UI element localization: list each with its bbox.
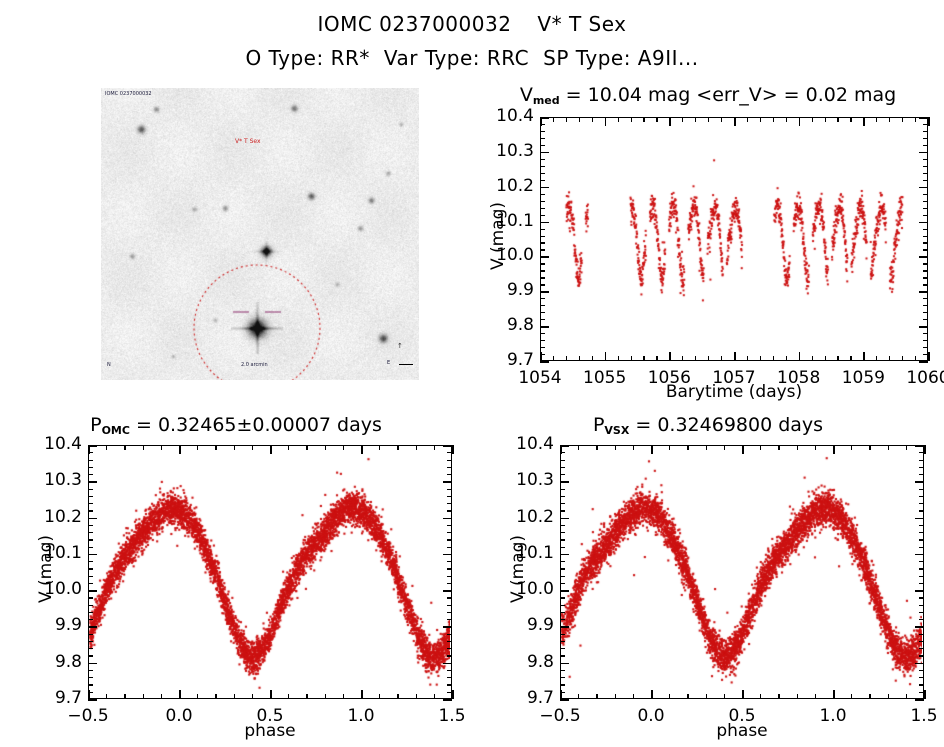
ytick-minor bbox=[88, 590, 93, 591]
xtick-minor bbox=[605, 356, 606, 361]
timeseries-ylabel: V (mag) bbox=[488, 186, 508, 286]
ytick-minor bbox=[88, 467, 93, 468]
ytick-label: 10.3 bbox=[478, 141, 534, 161]
xtick-minor bbox=[88, 694, 89, 699]
ytick-minor bbox=[560, 626, 565, 627]
ytick-minor bbox=[923, 152, 928, 153]
ytick-minor bbox=[560, 460, 565, 461]
ytick-minor bbox=[560, 481, 565, 482]
ytick-minor bbox=[923, 284, 928, 285]
ytick-minor bbox=[923, 326, 928, 327]
phase-omc-plot-frame bbox=[88, 445, 452, 699]
xtick-minor bbox=[742, 694, 743, 699]
ytick-minor bbox=[88, 670, 93, 671]
ytick-minor bbox=[919, 539, 924, 540]
xtick-minor bbox=[669, 117, 670, 122]
finder-label-top-left: IOMC 0237000032 bbox=[105, 91, 152, 97]
xtick-label: 1.5 bbox=[884, 706, 944, 726]
xtick-minor bbox=[270, 445, 271, 450]
xtick-label: 0.0 bbox=[139, 706, 219, 726]
xtick-minor bbox=[928, 117, 929, 122]
xtick-label: 0.5 bbox=[230, 706, 310, 726]
ytick-minor bbox=[560, 547, 565, 548]
ytick-minor bbox=[447, 699, 452, 700]
ytick-label: 10.0 bbox=[478, 245, 534, 265]
finder-chart[interactable]: IOMC 0237000032 V* T Sex N 2.0 arcmin E … bbox=[101, 88, 419, 380]
xtick-minor bbox=[643, 117, 644, 122]
ytick-label: 10.4 bbox=[26, 434, 82, 454]
xtick-minor bbox=[234, 694, 235, 699]
xtick-minor bbox=[706, 694, 707, 699]
ytick-minor bbox=[88, 532, 93, 533]
ytick-minor bbox=[447, 503, 452, 504]
ytick-minor bbox=[560, 532, 565, 533]
finder-sky-image bbox=[101, 88, 419, 380]
xtick-minor bbox=[734, 117, 735, 122]
ytick-label: 9.7 bbox=[478, 350, 534, 370]
ytick-minor bbox=[88, 619, 93, 620]
ytick-minor bbox=[540, 312, 545, 313]
xtick-minor bbox=[631, 117, 632, 122]
xtick-minor bbox=[197, 445, 198, 450]
ytick-minor bbox=[88, 503, 93, 504]
ytick-minor bbox=[447, 481, 452, 482]
ytick-minor bbox=[923, 180, 928, 181]
ytick-label: 9.8 bbox=[478, 315, 534, 335]
xtick-minor bbox=[578, 445, 579, 450]
ytick-minor bbox=[88, 474, 93, 475]
ytick-minor bbox=[923, 263, 928, 264]
ytick-minor bbox=[447, 510, 452, 511]
xtick-minor bbox=[656, 356, 657, 361]
ytick-minor bbox=[923, 347, 928, 348]
phase-omc-panel[interactable]: POMC = 0.32465±0.00007 days V (mag) phas… bbox=[0, 414, 472, 747]
ytick-minor bbox=[923, 187, 928, 188]
xtick-minor bbox=[889, 117, 890, 122]
xtick-minor bbox=[687, 694, 688, 699]
iomc-datasheet: IOMC 0237000032V* T Sex O Type: RR*Var T… bbox=[0, 0, 944, 747]
xtick-minor bbox=[815, 694, 816, 699]
phase-omc-ylabel: V (mag) bbox=[36, 519, 56, 619]
ytick-minor bbox=[923, 131, 928, 132]
timeseries-panel[interactable]: V (mag) Barytime (days) 9.79.89.910.010.… bbox=[472, 104, 944, 404]
xtick-minor bbox=[397, 694, 398, 699]
ytick-minor bbox=[88, 684, 93, 685]
ytick-minor bbox=[560, 612, 565, 613]
classification-line: O Type: RR*Var Type: RRCSP Type: A9II... bbox=[0, 46, 944, 70]
ytick-minor bbox=[923, 256, 928, 257]
ytick-minor bbox=[923, 291, 928, 292]
ytick-minor bbox=[923, 208, 928, 209]
xtick-minor bbox=[434, 445, 435, 450]
xtick-minor bbox=[812, 117, 813, 122]
xtick-minor bbox=[760, 694, 761, 699]
xtick-minor bbox=[343, 445, 344, 450]
xtick-label: 1.0 bbox=[793, 706, 873, 726]
xtick-minor bbox=[721, 356, 722, 361]
ytick-minor bbox=[540, 236, 545, 237]
ytick-minor bbox=[540, 340, 545, 341]
ytick-minor bbox=[540, 333, 545, 334]
xtick-minor bbox=[88, 445, 89, 450]
xtick-minor bbox=[633, 445, 634, 450]
ytick-label: 10.3 bbox=[498, 470, 554, 490]
ytick-minor bbox=[560, 634, 565, 635]
xtick-minor bbox=[902, 117, 903, 122]
phase-vsx-title-rest: = 0.32469800 days bbox=[635, 414, 823, 436]
xtick-minor bbox=[797, 445, 798, 450]
ytick-minor bbox=[447, 605, 452, 606]
xtick-minor bbox=[724, 694, 725, 699]
ytick-minor bbox=[88, 663, 93, 664]
xtick-minor bbox=[869, 694, 870, 699]
ytick-minor bbox=[923, 319, 928, 320]
ytick-minor bbox=[923, 166, 928, 167]
xtick-minor bbox=[566, 356, 567, 361]
xtick-minor bbox=[915, 356, 916, 361]
xtick-minor bbox=[288, 694, 289, 699]
xtick-minor bbox=[850, 117, 851, 122]
ytick-minor bbox=[560, 576, 565, 577]
ytick-minor bbox=[923, 333, 928, 334]
ytick-minor bbox=[923, 340, 928, 341]
ytick-minor bbox=[540, 319, 545, 320]
ytick-minor bbox=[560, 605, 565, 606]
ytick-label: 9.8 bbox=[26, 652, 82, 672]
xtick-label: 0.0 bbox=[611, 706, 691, 726]
ytick-minor bbox=[919, 699, 924, 700]
ytick-minor bbox=[540, 263, 545, 264]
ytick-minor bbox=[88, 641, 93, 642]
ytick-label: 10.2 bbox=[498, 507, 554, 527]
phase-vsx-panel[interactable]: PVSX = 0.32469800 days V (mag) phase 9.7… bbox=[472, 414, 944, 747]
ytick-minor bbox=[540, 194, 545, 195]
xtick-minor bbox=[643, 356, 644, 361]
ytick-minor bbox=[88, 554, 93, 555]
ytick-minor bbox=[88, 597, 93, 598]
ytick-label: 10.0 bbox=[498, 579, 554, 599]
xtick-minor bbox=[812, 356, 813, 361]
ytick-minor bbox=[919, 554, 924, 555]
ytick-minor bbox=[560, 503, 565, 504]
xtick-minor bbox=[695, 356, 696, 361]
iomc-id: IOMC 0237000032 bbox=[317, 12, 511, 36]
xtick-minor bbox=[553, 117, 554, 122]
ytick-label: 9.9 bbox=[478, 280, 534, 300]
ytick-minor bbox=[447, 467, 452, 468]
xtick-minor bbox=[695, 117, 696, 122]
finder-label-bottom-right: E bbox=[387, 360, 390, 366]
xtick-minor bbox=[669, 445, 670, 450]
ytick-minor bbox=[447, 619, 452, 620]
ytick-minor bbox=[919, 496, 924, 497]
ytick-minor bbox=[923, 305, 928, 306]
ytick-minor bbox=[88, 612, 93, 613]
ytick-minor bbox=[560, 684, 565, 685]
ytick-minor bbox=[447, 590, 452, 591]
ytick-minor bbox=[540, 222, 545, 223]
ytick-minor bbox=[919, 583, 924, 584]
ytick-minor bbox=[88, 605, 93, 606]
xtick-minor bbox=[902, 356, 903, 361]
ytick-minor bbox=[560, 663, 565, 664]
ytick-minor bbox=[923, 270, 928, 271]
xtick-minor bbox=[708, 356, 709, 361]
xtick-minor bbox=[252, 694, 253, 699]
xtick-minor bbox=[306, 445, 307, 450]
ytick-minor bbox=[88, 576, 93, 577]
ytick-minor bbox=[88, 525, 93, 526]
ytick-minor bbox=[447, 554, 452, 555]
phase-vsx-plot-frame bbox=[560, 445, 924, 699]
xtick-minor bbox=[687, 445, 688, 450]
xtick-minor bbox=[179, 694, 180, 699]
xtick-minor bbox=[786, 117, 787, 122]
ytick-minor bbox=[919, 663, 924, 664]
xtick-minor bbox=[560, 694, 561, 699]
ytick-minor bbox=[447, 583, 452, 584]
ytick-minor bbox=[540, 270, 545, 271]
xtick-minor bbox=[592, 117, 593, 122]
xtick-minor bbox=[106, 694, 107, 699]
phase-vsx-title-symbol: P bbox=[593, 414, 604, 436]
ytick-minor bbox=[447, 655, 452, 656]
ytick-minor bbox=[540, 284, 545, 285]
ytick-label: 10.0 bbox=[26, 579, 82, 599]
xtick-minor bbox=[452, 694, 453, 699]
ytick-minor bbox=[88, 518, 93, 519]
ytick-minor bbox=[923, 138, 928, 139]
ytick-minor bbox=[540, 305, 545, 306]
ytick-minor bbox=[88, 489, 93, 490]
xtick-label: 1.0 bbox=[321, 706, 401, 726]
ytick-minor bbox=[540, 298, 545, 299]
ytick-minor bbox=[560, 489, 565, 490]
xtick-minor bbox=[721, 117, 722, 122]
xtick-minor bbox=[553, 356, 554, 361]
ytick-minor bbox=[923, 312, 928, 313]
ytick-minor bbox=[88, 496, 93, 497]
ytick-minor bbox=[923, 249, 928, 250]
ytick-minor bbox=[919, 489, 924, 490]
xtick-minor bbox=[799, 356, 800, 361]
xtick-minor bbox=[179, 445, 180, 450]
xtick-minor bbox=[708, 117, 709, 122]
ytick-minor bbox=[923, 159, 928, 160]
ytick-label: 10.1 bbox=[478, 211, 534, 231]
ytick-label: 9.9 bbox=[26, 615, 82, 635]
xtick-minor bbox=[825, 356, 826, 361]
ytick-minor bbox=[447, 532, 452, 533]
ytick-minor bbox=[447, 474, 452, 475]
ytick-minor bbox=[923, 229, 928, 230]
xtick-minor bbox=[579, 117, 580, 122]
xtick-minor bbox=[869, 445, 870, 450]
xtick-minor bbox=[837, 356, 838, 361]
ytick-label: 10.1 bbox=[26, 543, 82, 563]
xtick-minor bbox=[615, 694, 616, 699]
xtick-minor bbox=[416, 445, 417, 450]
ytick-minor bbox=[540, 201, 545, 202]
finder-object-marker-label: V* T Sex bbox=[235, 138, 261, 145]
xtick-minor bbox=[760, 117, 761, 122]
xtick-minor bbox=[799, 117, 800, 122]
xtick-minor bbox=[760, 445, 761, 450]
xtick-minor bbox=[825, 117, 826, 122]
ytick-minor bbox=[540, 291, 545, 292]
xtick-minor bbox=[288, 445, 289, 450]
ytick-minor bbox=[88, 634, 93, 635]
ytick-minor bbox=[560, 583, 565, 584]
xtick-minor bbox=[325, 445, 326, 450]
phase-omc-title-rest: = 0.32465±0.00007 days bbox=[136, 414, 382, 436]
ytick-minor bbox=[540, 173, 545, 174]
xtick-minor bbox=[786, 356, 787, 361]
ytick-minor bbox=[919, 670, 924, 671]
ytick-minor bbox=[88, 699, 93, 700]
ytick-minor bbox=[560, 467, 565, 468]
ytick-minor bbox=[919, 677, 924, 678]
xtick-minor bbox=[270, 694, 271, 699]
xtick-minor bbox=[215, 694, 216, 699]
xtick-label: 0.5 bbox=[702, 706, 782, 726]
ytick-minor bbox=[923, 298, 928, 299]
xtick-minor bbox=[361, 694, 362, 699]
xtick-minor bbox=[325, 694, 326, 699]
ytick-label: 10.2 bbox=[478, 176, 534, 196]
ytick-minor bbox=[88, 568, 93, 569]
ytick-minor bbox=[540, 256, 545, 257]
ytick-minor bbox=[919, 474, 924, 475]
ytick-label: 9.7 bbox=[498, 688, 554, 708]
xtick-minor bbox=[106, 445, 107, 450]
xtick-minor bbox=[888, 694, 889, 699]
ytick-minor bbox=[560, 561, 565, 562]
xtick-minor bbox=[143, 445, 144, 450]
ytick-minor bbox=[540, 159, 545, 160]
ytick-minor bbox=[88, 648, 93, 649]
ytick-minor bbox=[540, 131, 545, 132]
ytick-minor bbox=[540, 277, 545, 278]
ytick-minor bbox=[919, 684, 924, 685]
ytick-minor bbox=[540, 326, 545, 327]
ytick-minor bbox=[919, 648, 924, 649]
ytick-minor bbox=[88, 547, 93, 548]
xtick-minor bbox=[452, 445, 453, 450]
ytick-minor bbox=[919, 547, 924, 548]
ytick-minor bbox=[919, 568, 924, 569]
xtick-minor bbox=[778, 694, 779, 699]
xtick-minor bbox=[706, 445, 707, 450]
finder-scale-label: 2.0 arcmin bbox=[241, 362, 268, 368]
ytick-label: 10.4 bbox=[478, 106, 534, 126]
ytick-minor bbox=[919, 532, 924, 533]
ytick-minor bbox=[447, 568, 452, 569]
xtick-minor bbox=[876, 356, 877, 361]
ytick-minor bbox=[88, 481, 93, 482]
xtick-minor bbox=[924, 445, 925, 450]
xtick-minor bbox=[540, 356, 541, 361]
xtick-minor bbox=[124, 445, 125, 450]
ytick-minor bbox=[447, 670, 452, 671]
var-type: Var Type: RRC bbox=[384, 46, 529, 70]
xtick-minor bbox=[888, 445, 889, 450]
phase-vsx-title-sub: VSX bbox=[604, 424, 629, 437]
xtick-minor bbox=[633, 694, 634, 699]
ytick-label: 10.2 bbox=[26, 507, 82, 527]
xtick-minor bbox=[306, 694, 307, 699]
ytick-minor bbox=[560, 590, 565, 591]
ytick-minor bbox=[447, 576, 452, 577]
xtick-label: 1060 bbox=[888, 368, 944, 388]
timeseries-data-layer bbox=[541, 118, 926, 359]
ytick-minor bbox=[919, 626, 924, 627]
finder-north-arrow: ↑ bbox=[397, 342, 403, 350]
ytick-minor bbox=[540, 249, 545, 250]
ytick-minor bbox=[919, 503, 924, 504]
sp-type: SP Type: A9II... bbox=[543, 46, 698, 70]
xtick-minor bbox=[863, 117, 864, 122]
xtick-minor bbox=[797, 694, 798, 699]
xtick-minor bbox=[906, 445, 907, 450]
ytick-minor bbox=[560, 655, 565, 656]
xtick-minor bbox=[566, 117, 567, 122]
ytick-minor bbox=[560, 619, 565, 620]
ytick-minor bbox=[447, 634, 452, 635]
xtick-minor bbox=[540, 117, 541, 122]
ytick-minor bbox=[447, 547, 452, 548]
ytick-minor bbox=[560, 525, 565, 526]
xtick-minor bbox=[682, 356, 683, 361]
xtick-minor bbox=[773, 117, 774, 122]
xtick-minor bbox=[416, 694, 417, 699]
xtick-minor bbox=[669, 694, 670, 699]
page-title: IOMC 0237000032V* T Sex bbox=[0, 12, 944, 36]
xtick-minor bbox=[651, 445, 652, 450]
ytick-minor bbox=[560, 699, 565, 700]
xtick-minor bbox=[851, 694, 852, 699]
ytick-minor bbox=[560, 641, 565, 642]
ytick-minor bbox=[919, 612, 924, 613]
ytick-label: 9.7 bbox=[26, 688, 82, 708]
ytick-minor bbox=[919, 590, 924, 591]
ytick-minor bbox=[447, 641, 452, 642]
ytick-minor bbox=[540, 138, 545, 139]
xtick-minor bbox=[651, 694, 652, 699]
xtick-minor bbox=[833, 694, 834, 699]
ytick-minor bbox=[88, 460, 93, 461]
xtick-minor bbox=[889, 356, 890, 361]
xtick-minor bbox=[361, 445, 362, 450]
xtick-minor bbox=[161, 445, 162, 450]
ytick-minor bbox=[447, 663, 452, 664]
xtick-minor bbox=[596, 694, 597, 699]
ytick-minor bbox=[88, 583, 93, 584]
finder-east-tick bbox=[399, 364, 413, 365]
ytick-minor bbox=[447, 684, 452, 685]
xtick-minor bbox=[778, 445, 779, 450]
xtick-minor bbox=[734, 356, 735, 361]
ytick-minor bbox=[923, 215, 928, 216]
xtick-minor bbox=[915, 117, 916, 122]
xtick-minor bbox=[656, 117, 657, 122]
xtick-minor bbox=[578, 694, 579, 699]
ytick-minor bbox=[560, 539, 565, 540]
phase-omc-title-symbol: P bbox=[90, 414, 101, 436]
ytick-minor bbox=[560, 554, 565, 555]
ytick-minor bbox=[540, 208, 545, 209]
ytick-label: 10.4 bbox=[498, 434, 554, 454]
